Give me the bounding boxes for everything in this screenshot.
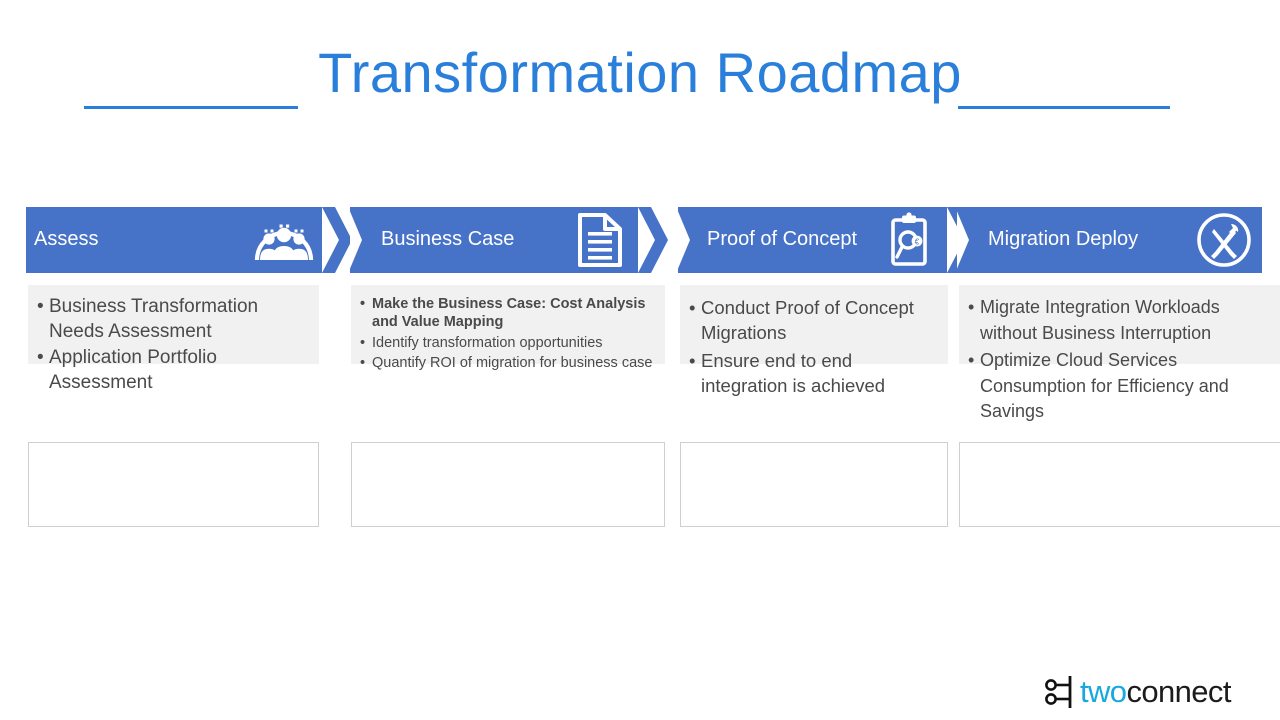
group-people-icon — [252, 210, 316, 270]
svg-text:€: € — [915, 237, 920, 246]
title-rule-right — [958, 106, 1170, 109]
stage-body-migration-deploy: Migrate Integration Workloads without Bu… — [959, 285, 1280, 364]
stage-header-proof-of-concept[interactable]: Proof of Concept € — [679, 207, 947, 273]
stage-bullets-migration-deploy: Migrate Integration Workloads without Bu… — [967, 295, 1278, 425]
list-item: Identify transformation opportunities — [359, 334, 655, 352]
stage-footer-business-case — [351, 442, 665, 527]
stage-bullets-proof-of-concept: Conduct Proof of Concept Migrations Ensu… — [688, 295, 938, 398]
stage-bullets-assess: Business Transformation Needs Assessment… — [36, 295, 309, 395]
stage-footer-proof-of-concept — [680, 442, 948, 527]
logo-text-two: two — [1080, 674, 1126, 709]
title-area: Transformation Roadmap — [0, 36, 1280, 112]
page-title: Transformation Roadmap — [0, 36, 1280, 110]
list-item: Conduct Proof of Concept Migrations — [688, 295, 938, 346]
wrench-screwdriver-icon — [1192, 210, 1256, 270]
list-item: Application Portfolio Assessment — [36, 346, 309, 395]
stage-label-business-case: Business Case — [351, 228, 568, 252]
stage-header-assess[interactable]: Assess — [26, 207, 322, 273]
stage-footer-migration-deploy — [959, 442, 1280, 527]
twoconnect-logo: twoconnect — [1043, 672, 1215, 712]
two-connect-node-mark-icon — [1043, 675, 1079, 709]
stage-body-business-case: Make the Business Case: Cost Analysis an… — [351, 285, 665, 364]
stage-bullets-business-case: Make the Business Case: Cost Analysis an… — [359, 295, 655, 372]
stage-label-migration-deploy: Migration Deploy — [958, 228, 1192, 252]
stage-header-business-case[interactable]: Business Case — [351, 207, 638, 273]
document-icon — [568, 210, 632, 270]
list-item: Ensure end to end integration is achieve… — [688, 348, 938, 399]
stage-label-proof-of-concept: Proof of Concept — [679, 228, 877, 252]
list-item: Optimize Cloud Services Consumption for … — [967, 348, 1278, 425]
roadmap-diagram: Assess — [26, 207, 1262, 527]
list-item: Business Transformation Needs Assessment — [36, 295, 309, 344]
list-item: Make the Business Case: Cost Analysis an… — [359, 295, 655, 332]
roadmap-stage-migration-deploy[interactable]: Migration Deploy Migrate Integration Wor… — [932, 207, 1262, 273]
list-item: Migrate Integration Workloads without Bu… — [967, 295, 1278, 346]
logo-wordmark: twoconnect — [1080, 675, 1231, 709]
logo-text-connect: connect — [1126, 674, 1230, 709]
stage-body-assess: Business Transformation Needs Assessment… — [28, 285, 319, 364]
roadmap-stage-proof-of-concept[interactable]: Proof of Concept € Conduct Proof of Conc… — [653, 207, 949, 273]
list-item: Quantify ROI of migration for business c… — [359, 354, 655, 372]
roadmap-stage-business-case[interactable]: Business Case Make the Business Case: Co… — [325, 207, 640, 273]
stage-body-proof-of-concept: Conduct Proof of Concept Migrations Ensu… — [680, 285, 948, 364]
stage-label-assess: Assess — [26, 228, 252, 252]
stage-footer-assess — [28, 442, 319, 527]
roadmap-stage-assess[interactable]: Assess — [26, 207, 339, 273]
stage-header-migration-deploy[interactable]: Migration Deploy — [958, 207, 1262, 273]
